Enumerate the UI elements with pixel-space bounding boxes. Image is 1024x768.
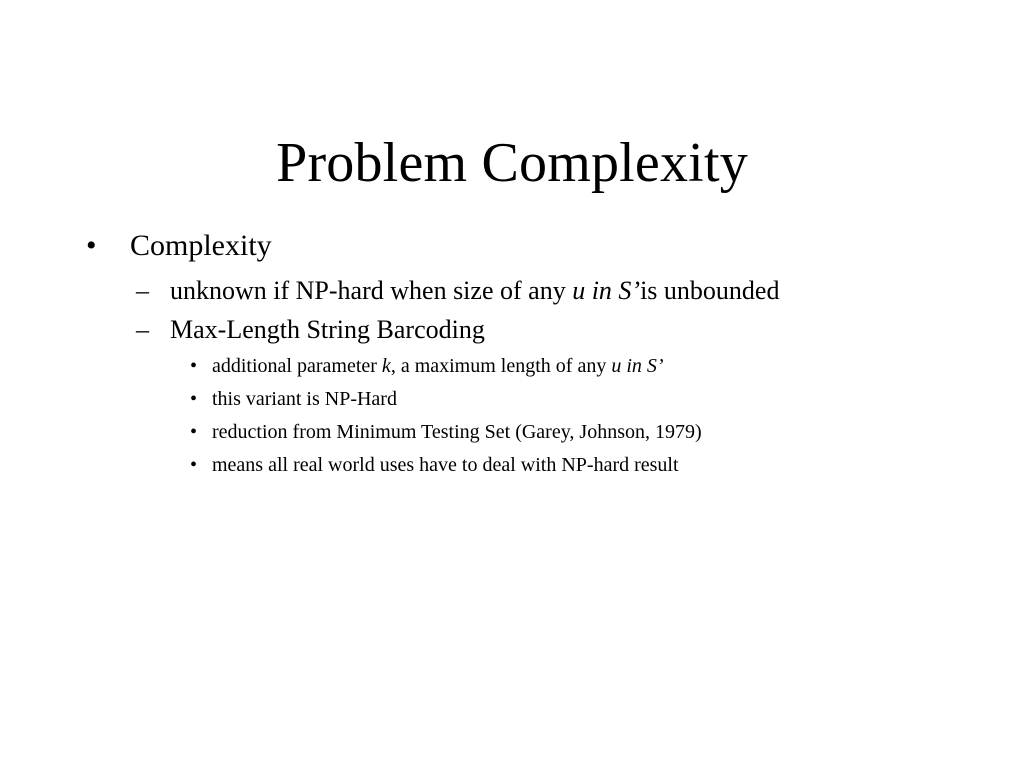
bullet-level3-text-part2: , a maximum length of any — [391, 355, 612, 377]
bullet-dash-icon: – — [136, 313, 149, 346]
bullet-dash-icon: – — [136, 274, 149, 307]
bullet-level3-reduction-minimum-testing-set: • reduction from Minimum Testing Set (Ga… — [0, 418, 1024, 447]
bullet-level3-text-italic-u-in-s: u in S’ — [611, 355, 663, 377]
bullet-level2-text: Max-Length String Barcoding — [170, 313, 824, 346]
bullet-level1-complexity: • Complexity — [0, 228, 1024, 264]
bullet-dot-icon: • — [190, 385, 197, 414]
bullet-level3-text: reduction from Minimum Testing Set (Gare… — [212, 418, 964, 447]
bullet-level1-text: Complexity — [130, 228, 964, 264]
bullet-dot-icon: • — [86, 228, 97, 264]
slide: Problem Complexity • Complexity – unknow… — [0, 0, 1024, 768]
bullet-level2-unknown-np-hard: – unknown if NP-hard when size of any u … — [0, 274, 1024, 307]
bullet-level2-text-part1: unknown if NP-hard when size of any — [170, 276, 572, 305]
bullet-level3-text-part1: additional parameter — [212, 355, 382, 377]
bullet-level3-text: this variant is NP-Hard — [212, 385, 964, 414]
bullet-level2-text: unknown if NP-hard when size of any u in… — [170, 274, 824, 307]
bullet-level3-text: means all real world uses have to deal w… — [212, 451, 964, 480]
bullet-level2-max-length-string-barcoding: – Max-Length String Barcoding — [0, 313, 1024, 346]
bullet-level3-text-italic-k: k — [382, 355, 391, 377]
page-title: Problem Complexity — [0, 134, 1024, 193]
bullet-level3-additional-parameter: • additional parameter k, a maximum leng… — [0, 352, 1024, 381]
bullet-dot-icon: • — [190, 418, 197, 447]
bullet-level3-text: additional parameter k, a maximum length… — [212, 352, 964, 381]
bullet-dot-icon: • — [190, 451, 197, 480]
bullet-level3-np-hard-variant: • this variant is NP-Hard — [0, 385, 1024, 414]
bullet-dot-icon: • — [190, 352, 197, 381]
bullet-level2-text-part2: is unbounded — [640, 276, 779, 305]
bullet-level3-real-world-uses: • means all real world uses have to deal… — [0, 451, 1024, 480]
bullet-level3-group: • additional parameter k, a maximum leng… — [0, 352, 1024, 480]
slide-body: • Complexity – unknown if NP-hard when s… — [0, 228, 1024, 484]
bullet-level2-text-italic: u in S’ — [572, 276, 640, 305]
bullet-level2-group: – unknown if NP-hard when size of any u … — [0, 274, 1024, 480]
